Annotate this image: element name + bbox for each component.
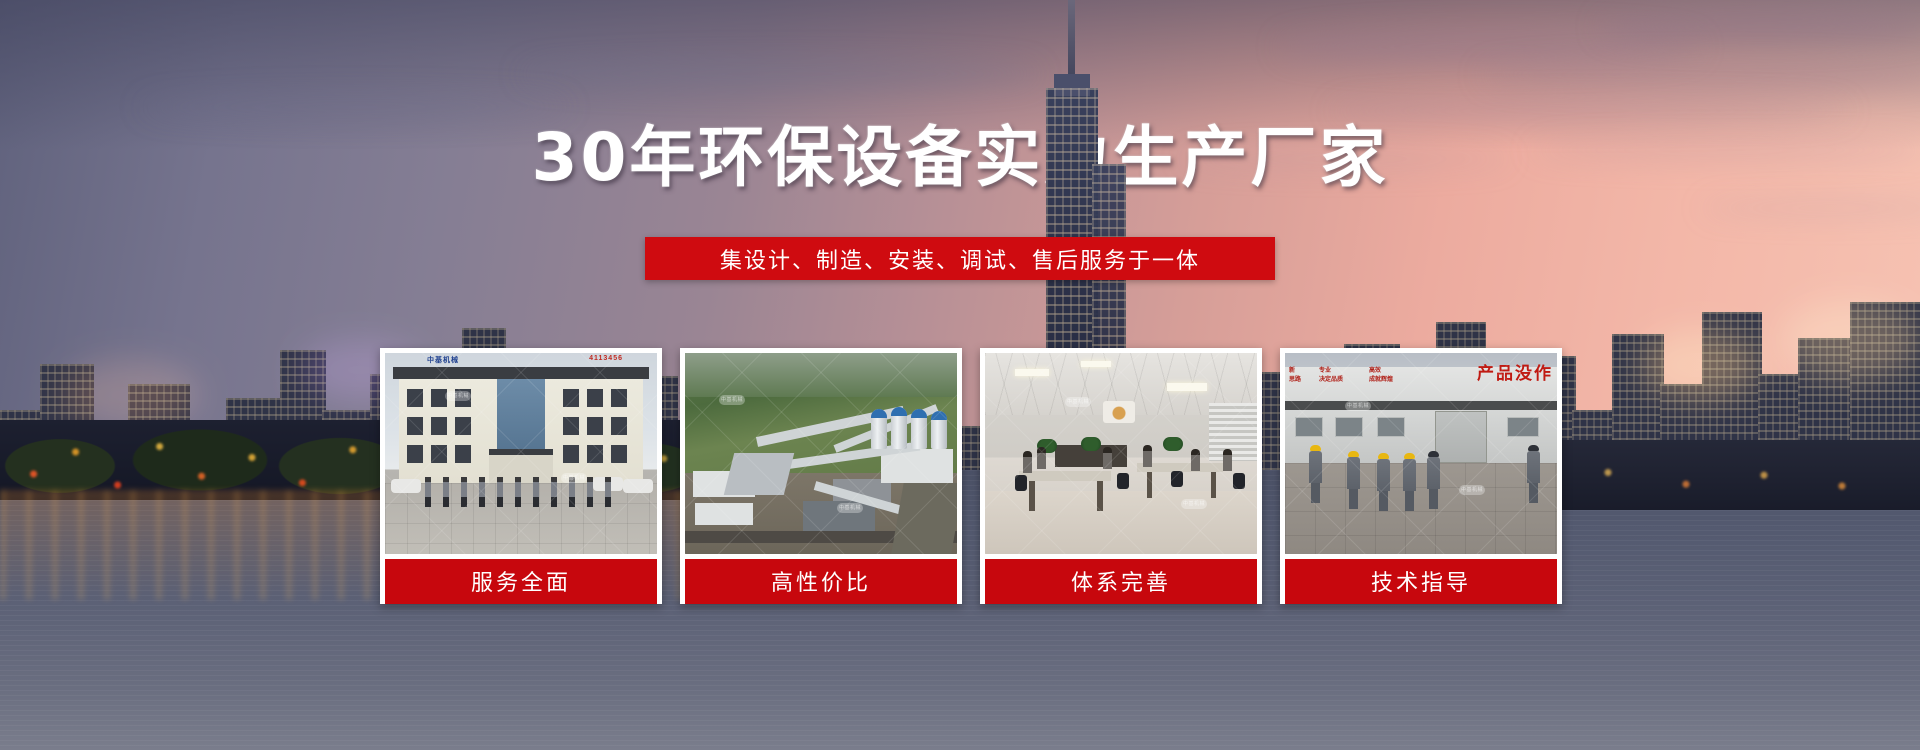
card-caption-text: 服务全面 (471, 565, 571, 597)
hero-banner: 30年环保设备实力生产厂家 集设计、制造、安装、调试、售后服务于一体 中基机械 … (0, 0, 1920, 750)
building-phone-text: 4113456 (589, 355, 623, 362)
card-caption-text: 高性价比 (771, 565, 871, 597)
company-headquarters-photo: 中基机械 4113456 (385, 353, 657, 554)
workshop-training-photo: 产品没作 新思路 专业决定品质 高效成就辉煌 中基机械 中基机械 (1285, 353, 1557, 554)
wall-logo (1103, 401, 1135, 423)
feature-cards: 中基机械 4113456 (380, 348, 1545, 604)
feature-card[interactable]: 中基机械 4113456 (380, 348, 662, 604)
feature-card[interactable]: 中基机械 中基机械 高性价比 (680, 348, 962, 604)
card-caption: 服务全面 (385, 559, 657, 604)
feature-card[interactable]: 产品没作 新思路 专业决定品质 高效成就辉煌 中基机械 中基机械 (1280, 348, 1562, 604)
production-plant-aerial-photo: 中基机械 中基机械 (685, 353, 957, 554)
subtitle-banner: 集设计、制造、安装、调试、售后服务于一体 (645, 237, 1275, 280)
feature-card[interactable]: 中基机械 中基机械 体系完善 (980, 348, 1262, 604)
building-sign-text: 中基机械 (427, 355, 459, 365)
card-caption: 技术指导 (1285, 559, 1557, 604)
wall-slogan: 专业决定品质 (1319, 367, 1343, 385)
card-caption: 高性价比 (685, 559, 957, 604)
factory-wall-sign: 产品没作 (1477, 359, 1553, 384)
card-caption-text: 体系完善 (1071, 565, 1171, 597)
tower-crown (1054, 74, 1090, 96)
card-caption-text: 技术指导 (1371, 565, 1471, 597)
card-caption: 体系完善 (985, 559, 1257, 604)
wall-slogan: 高效成就辉煌 (1369, 367, 1393, 385)
subtitle-text: 集设计、制造、安装、调试、售后服务于一体 (720, 243, 1200, 275)
office-interior-photo: 中基机械 中基机械 (985, 353, 1257, 554)
wall-slogan: 新思路 (1289, 367, 1301, 385)
